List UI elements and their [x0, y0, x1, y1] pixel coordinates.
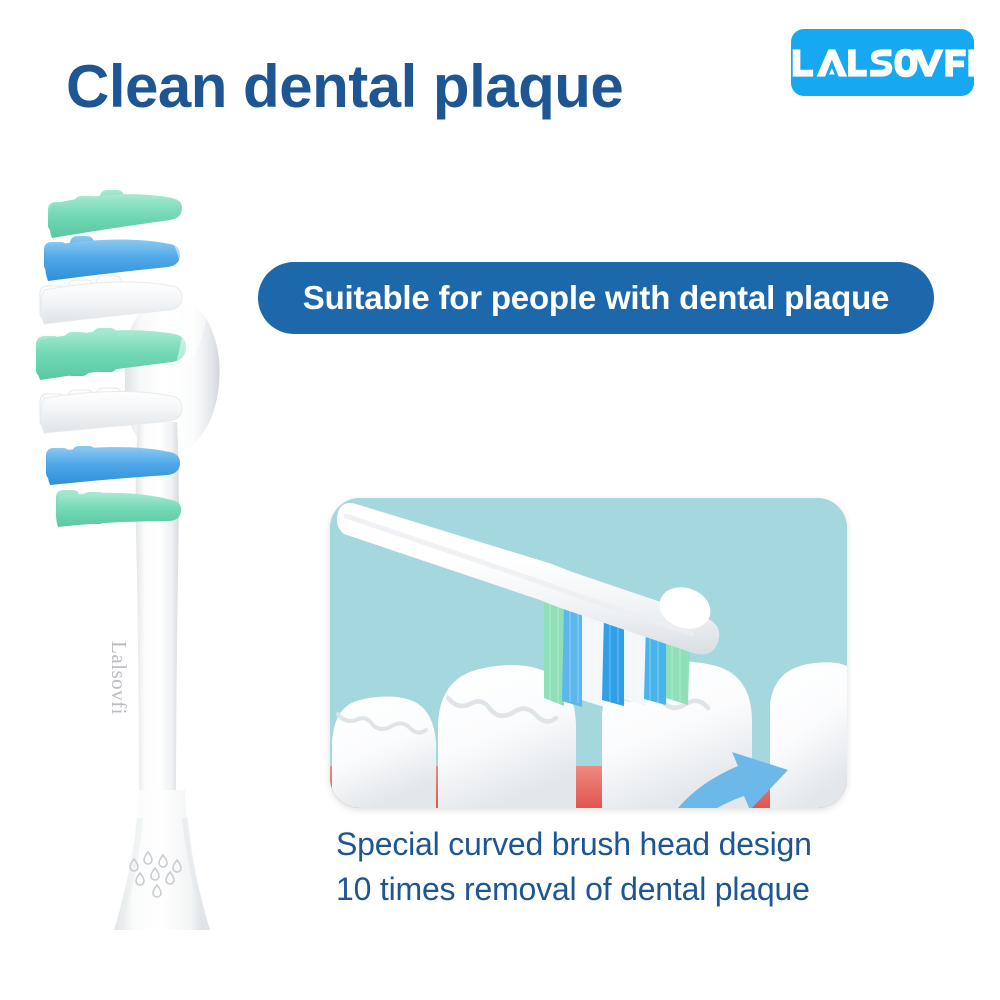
- page-title: Clean dental plaque: [66, 52, 623, 121]
- brand-logo-icon-suffix: [913, 43, 974, 83]
- product-marketing-image: Clean dental plaque Suitable for people …: [0, 0, 1000, 1000]
- feature-banner-label: Suitable for people with dental plaque: [303, 279, 889, 317]
- brand-logo-icon: [791, 43, 919, 83]
- caption-line-2: 10 times removal of dental plaque: [336, 867, 812, 912]
- molar-far-right: [770, 662, 847, 808]
- bristle-row-mint-top: [48, 190, 182, 238]
- inset-caption: Special curved brush head design 10 time…: [336, 822, 812, 913]
- brush-base: [114, 790, 210, 930]
- bristle-row-blue-upper: [44, 236, 180, 281]
- brush-head-illustration: [30, 160, 280, 930]
- handle-engraving: Lalsovfi: [101, 641, 131, 781]
- brand-logo-badge: [791, 29, 974, 96]
- molar-left: [332, 697, 436, 809]
- feature-banner: Suitable for people with dental plaque: [258, 262, 934, 334]
- caption-line-1: Special curved brush head design: [336, 822, 812, 867]
- inset-photo-card: [330, 498, 847, 808]
